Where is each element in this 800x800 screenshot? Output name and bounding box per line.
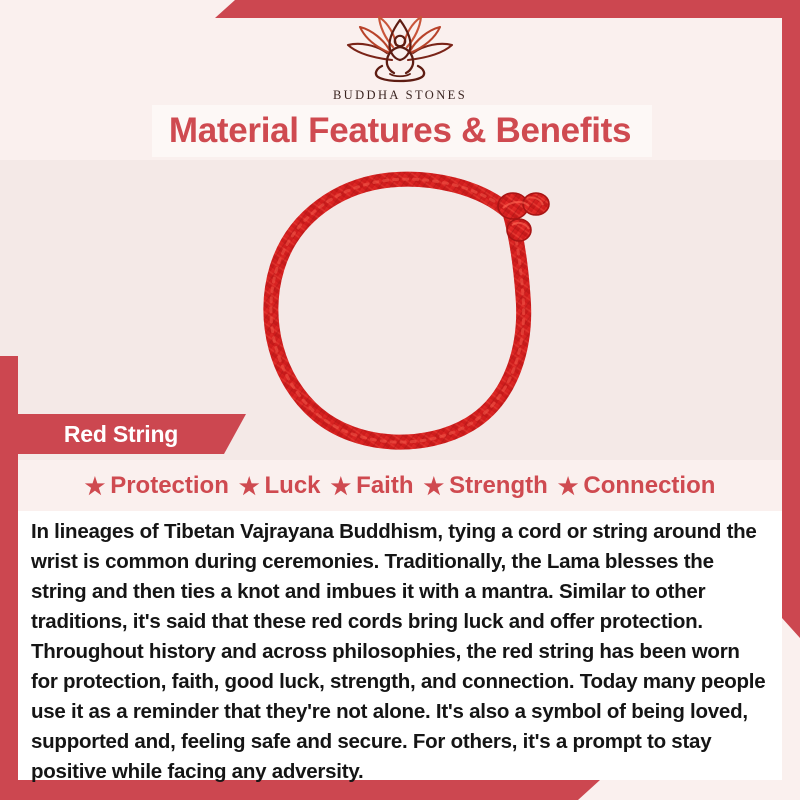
description-panel: In lineages of Tibetan Vajrayana Buddhis…	[18, 511, 782, 780]
feature-item-strength: ★ Strength	[423, 472, 547, 500]
feature-item-connection: ★ Connection	[558, 472, 716, 500]
feature-label: Protection	[110, 472, 229, 500]
feature-item-luck: ★ Luck	[239, 472, 321, 500]
material-label: Red String	[18, 414, 224, 454]
feature-label: Connection	[583, 472, 715, 500]
brand-logo: BUDDHA STONES	[0, 14, 800, 103]
brand-name: BUDDHA STONES	[0, 88, 800, 103]
star-icon: ★	[558, 475, 579, 498]
page-title: Material Features & Benefits	[0, 103, 800, 159]
feature-label: Strength	[449, 472, 548, 500]
star-icon: ★	[85, 475, 106, 498]
feature-item-protection: ★ Protection	[85, 472, 229, 500]
feature-label: Faith	[356, 472, 413, 500]
description-text: In lineages of Tibetan Vajrayana Buddhis…	[31, 517, 768, 787]
product-image-red-string-bracelet	[255, 168, 585, 458]
feature-list: ★ Protection ★ Luck ★ Faith ★ Strength ★…	[18, 464, 782, 508]
star-icon: ★	[331, 475, 352, 498]
star-icon: ★	[239, 475, 260, 498]
decorative-band-left	[0, 356, 18, 780]
feature-label: Luck	[265, 472, 321, 500]
bracelet-knot	[498, 193, 549, 241]
feature-item-faith: ★ Faith	[331, 472, 414, 500]
star-icon: ★	[423, 475, 444, 498]
infographic-canvas: BUDDHA STONES Material Features & Benefi…	[0, 0, 800, 800]
lotus-meditation-icon	[330, 14, 470, 86]
